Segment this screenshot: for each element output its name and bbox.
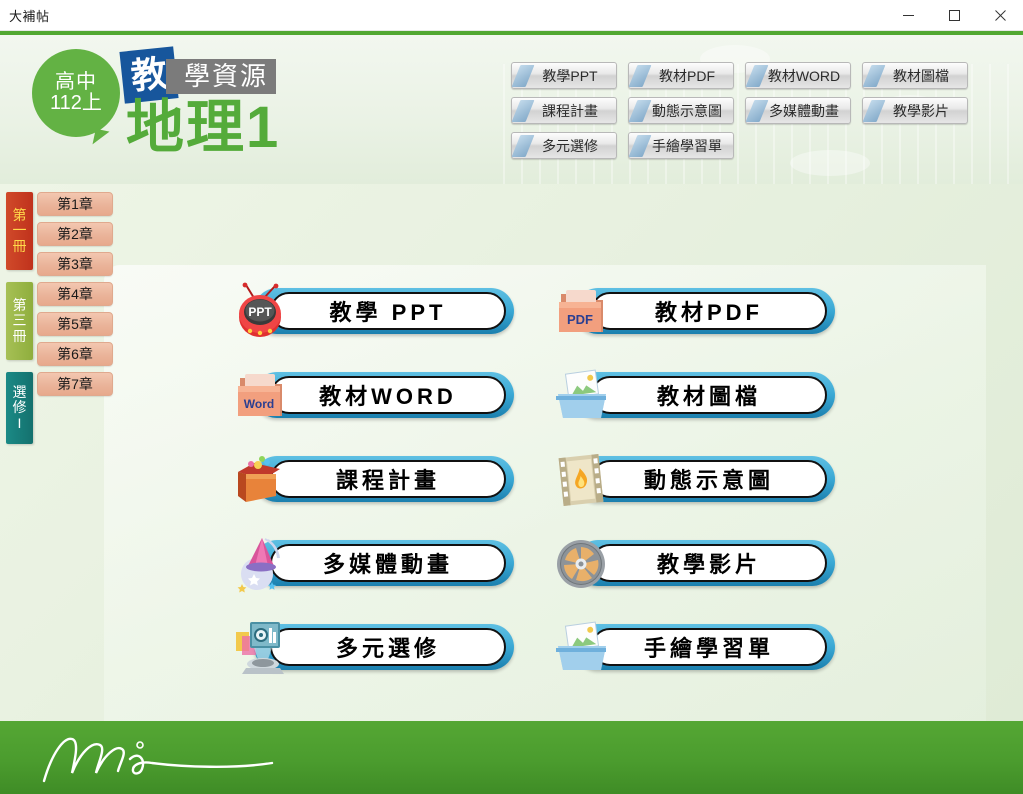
treasure-box-icon [232,450,290,510]
page-header: 高中 112上 教 學資源 地理1 教學PPT 教材PDF 教材WORD [0,31,1023,184]
maximize-button[interactable] [931,0,977,31]
resource-button-elective[interactable]: 多元選修 [232,620,531,682]
nani-brand-logo [34,729,314,787]
quick-link-label: 教學影片 [881,101,949,121]
chapter-item-4[interactable]: 第4章 [37,282,113,306]
chapter-item-6[interactable]: 第6章 [37,342,113,366]
button-inner: 多元選修 [270,628,506,666]
application-window: 大補帖 高中 112上 教 學資源 [0,0,1023,794]
close-icon [994,9,1007,22]
resource-button-teaching-video[interactable]: 教學影片 [553,536,852,598]
volume-char: 第 [13,208,27,223]
resource-button-teaching-ppt[interactable]: 教學 PPT PPT [232,284,531,346]
quick-link-label: 多元選修 [530,136,598,156]
quick-link-label: 課程計畫 [530,101,598,121]
svg-text:PDF: PDF [567,312,593,327]
quick-link-course-plan[interactable]: 課程計畫 [511,97,617,124]
quick-link-label: 教材圖檔 [881,66,949,86]
volume-char: 修 [13,400,27,415]
filmstrip-icon [553,450,611,510]
chapter-item-7[interactable]: 第7章 [37,372,113,396]
resource-band: 學資源 [166,59,276,94]
quick-link-handwritten-worksheet[interactable]: 手繪學習單 [628,132,734,159]
resource-button-course-plan[interactable]: 課程計畫 [232,452,531,514]
window-title: 大補帖 [9,6,50,25]
svg-text:PPT: PPT [248,305,272,319]
resource-button-multimedia-animation[interactable]: 多媒體動畫 [232,536,531,598]
footer-bar: 建議使用office 2007 以上版本 服務中心 [0,721,1023,794]
tv-ppt-icon: PPT [232,282,290,342]
quick-link-teaching-video[interactable]: 教學影片 [862,97,968,124]
quick-link-material-word[interactable]: 教材WORD [745,62,851,89]
resource-button-label: 教材圖檔 [657,379,761,411]
volume-char: 第 [13,298,27,313]
volume-char: 選 [13,385,27,400]
projector-icon [232,618,290,678]
teaching-mark-char: 教 [129,55,169,95]
grade-term-bubble: 高中 112上 [32,49,120,137]
minimize-button[interactable] [885,0,931,31]
quick-link-label: 教學PPT [530,66,597,86]
volume-char: I [18,416,22,431]
volume-char: 冊 [13,239,27,254]
button-inner: 教材PDF [591,292,827,330]
resource-button-handwritten-worksheet[interactable]: 手繪學習單 [553,620,852,682]
quick-link-label: 教材PDF [647,66,715,86]
magic-hat-icon [232,534,290,594]
resource-button-label: 課程計畫 [336,463,440,495]
volume-char: 冊 [13,329,27,344]
sidebar-volume-tab-1[interactable]: 第 一 冊 [6,192,33,270]
quick-link-teaching-ppt[interactable]: 教學PPT [511,62,617,89]
button-inner: 課程計畫 [270,460,506,498]
quick-link-label: 教材WORD [756,66,840,86]
sidebar-volume-tab-elective[interactable]: 選 修 I [6,372,33,444]
quick-links-bar: 教學PPT 教材PDF 教材WORD 教材圖檔 課程計畫 動態示意圖 [511,62,991,159]
volume-char: 一 [13,223,27,238]
quick-link-label: 動態示意圖 [640,101,722,121]
resource-button-label: 教學影片 [657,547,761,579]
sidebar: 第 一 冊 第 三 冊 選 修 I 第1章 第2章 第3章 第4章 第5章 第6… [0,184,115,464]
grade-label: 高中 [55,72,97,93]
resource-button-material-pdf[interactable]: 教材PDF PDF [553,284,852,346]
svg-text:Word: Word [244,397,274,411]
resource-button-label: 手繪學習單 [644,631,774,663]
quick-link-animation-diagram[interactable]: 動態示意圖 [628,97,734,124]
button-inner: 多媒體動畫 [270,544,506,582]
term-label: 112上 [50,93,102,114]
resource-button-label: 多媒體動畫 [323,547,453,579]
image-folder-icon [553,366,611,426]
resource-button-label: 教學 PPT [330,295,447,327]
chapter-item-2[interactable]: 第2章 [37,222,113,246]
resource-button-material-images[interactable]: 教材圖檔 [553,368,852,430]
resource-button-label: 動態示意圖 [644,463,774,495]
sidebar-volume-tab-3[interactable]: 第 三 冊 [6,282,33,360]
button-inner: 手繪學習單 [591,628,827,666]
quick-link-material-pdf[interactable]: 教材PDF [628,62,734,89]
button-inner: 教學影片 [591,544,827,582]
button-inner: 動態示意圖 [591,460,827,498]
quick-link-material-images[interactable]: 教材圖檔 [862,62,968,89]
resource-button-material-word[interactable]: 教材WORD Word [232,368,531,430]
resource-button-label: 多元選修 [336,631,440,663]
quick-link-multimedia-animation[interactable]: 多媒體動畫 [745,97,851,124]
button-inner: 教學 PPT [270,292,506,330]
resource-button-animation-diagram[interactable]: 動態示意圖 [553,452,852,514]
resource-button-grid: 教學 PPT PPT 教材PDF [232,284,852,682]
close-button[interactable] [977,0,1023,31]
page-title: 地理1 [126,99,280,157]
quick-link-label: 多媒體動畫 [757,101,839,121]
maximize-icon [948,9,961,22]
resource-button-label: 教材PDF [655,295,763,327]
button-inner: 教材圖檔 [591,376,827,414]
chapter-item-3[interactable]: 第3章 [37,252,113,276]
folder-word-icon: Word [232,366,290,426]
chapter-list: 第1章 第2章 第3章 第4章 第5章 第6章 第7章 [37,192,113,402]
window-controls [885,0,1023,31]
minimize-icon [902,9,915,22]
film-reel-icon [553,534,611,594]
resource-button-label: 教材WORD [319,379,457,411]
quick-link-elective[interactable]: 多元選修 [511,132,617,159]
resource-band-label: 學資源 [184,64,268,90]
brand-logo: 高中 112上 教 學資源 地理1 [18,41,318,181]
volume-char: 三 [13,313,27,328]
chapter-item-5[interactable]: 第5章 [37,312,113,336]
button-inner: 教材WORD [270,376,506,414]
folder-pdf-icon: PDF [553,282,611,342]
chapter-item-1[interactable]: 第1章 [37,192,113,216]
worksheet-folder-icon [553,618,611,678]
quick-link-label: 手繪學習單 [640,136,722,156]
title-bar: 大補帖 [0,0,1023,31]
